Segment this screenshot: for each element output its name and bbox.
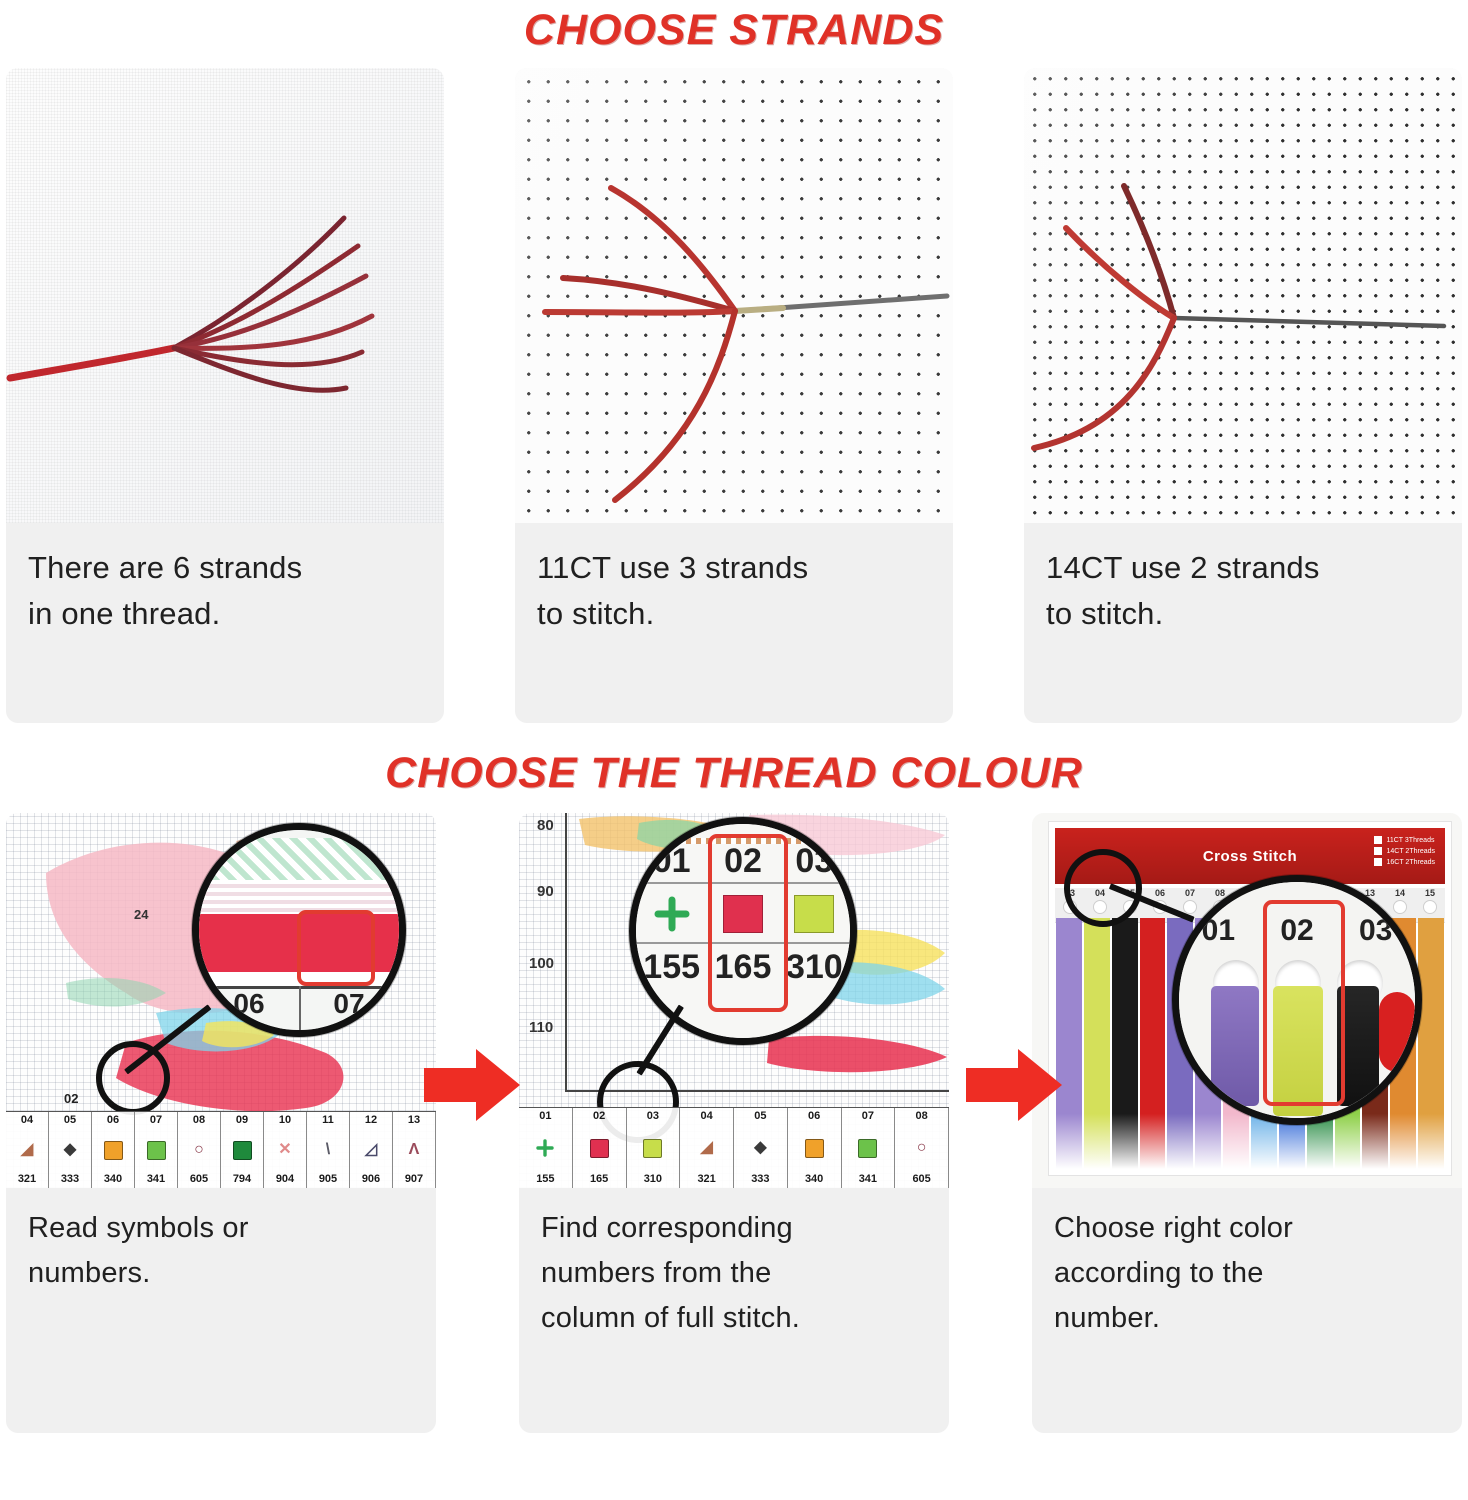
legend-index: 09 [236, 1114, 248, 1127]
color-swatch-icon [147, 1141, 166, 1160]
legend-dmc-number: 333 [751, 1173, 769, 1186]
legend-index: 08 [193, 1114, 205, 1127]
two-strands-with-needle-illustration [1024, 68, 1462, 523]
heading-choose-strands: CHOOSE STRANDS [0, 0, 1468, 56]
legend-index: 02 [593, 1110, 605, 1123]
organizer-title: Cross Stitch [1203, 848, 1297, 865]
organizer-option-1: 14CT 2Threads [1374, 847, 1435, 855]
highlight-box-slot-02 [1263, 900, 1345, 1106]
legend-symbol: Λ [409, 1139, 420, 1161]
legend-dmc-number: 340 [805, 1173, 823, 1186]
legend-symbol: ✕ [278, 1139, 291, 1161]
triangle-icon: ◢ [700, 1140, 712, 1156]
legend-index: 12 [365, 1114, 377, 1127]
thread-skein [1084, 918, 1110, 1169]
legend-cell: 06340 [92, 1112, 135, 1188]
legend-index: 06 [107, 1114, 119, 1127]
photo-thread-organizer: Cross Stitch 11CT 3Threads 14CT 2Threads [1032, 813, 1462, 1188]
legend-symbol: ◿ [365, 1139, 377, 1161]
caption-11ct: 11CT use 3 strands to stitch. [515, 523, 953, 637]
legend-symbol: ◆ [64, 1139, 76, 1161]
svg-text:24: 24 [134, 907, 149, 922]
legend-symbol: ◆ [754, 1137, 766, 1159]
magnifier-col-03: 03 [779, 842, 850, 881]
legend-index: 07 [862, 1110, 874, 1123]
caption-line-3: number. [1054, 1296, 1440, 1341]
checkbox-icon [1374, 847, 1382, 855]
legend-dmc-number: 340 [104, 1173, 122, 1186]
highlight-box-column-02 [708, 834, 788, 1012]
organizer-option-label: 11CT 3Threads [1386, 837, 1434, 844]
caption-line-1: 11CT use 3 strands [537, 545, 931, 591]
legend-symbol: ○ [917, 1137, 927, 1159]
legend-cell: 04◢321 [680, 1108, 734, 1188]
caption-line-3: column of full stitch. [541, 1296, 927, 1341]
caption-find-numbers: Find corresponding numbers from the colu… [519, 1188, 949, 1341]
legend-index: 06 [808, 1110, 820, 1123]
legend-symbol [590, 1137, 609, 1159]
colour-card-find-numbers: 80 90 100 110 01 [519, 813, 949, 1433]
organizer-hole-icon [1423, 900, 1437, 914]
legend-index: 10 [279, 1114, 291, 1127]
legend-dmc-number: 907 [405, 1173, 423, 1186]
legend-index: 11 [322, 1114, 334, 1127]
right-arrow-icon [424, 1068, 482, 1102]
photo-chart-with-axis: 80 90 100 110 01 [519, 813, 949, 1188]
magnifier-dmc-310: 310 [779, 948, 850, 987]
color-swatch-icon [805, 1139, 824, 1158]
magnifier-dmc-155: 155 [636, 948, 707, 987]
magnifier-label-06: 06 [199, 988, 299, 1020]
caret-icon: Λ [409, 1142, 420, 1158]
legend-index: 05 [754, 1110, 766, 1123]
organizer-options: 11CT 3Threads 14CT 2Threads 16CT 2Thread… [1374, 836, 1435, 866]
magnifier-contents: 01 02 03 [636, 824, 850, 1038]
thread-skein [1056, 918, 1082, 1169]
caption-line-2: to stitch. [537, 591, 931, 637]
photo-pattern-chart: 24 06 07 [6, 813, 436, 1188]
legend-cell: 03310 [627, 1108, 681, 1188]
needle-icon [1174, 318, 1444, 326]
organizer-slot-number: 06 [1155, 888, 1165, 899]
strands-card-row: There are 6 strands in one thread. 11CT … [0, 68, 1468, 723]
pattern-legend-table: 04◢32105◆333063400734108○6050979410✕9041… [6, 1111, 436, 1188]
legend-symbol [233, 1139, 252, 1161]
legend-index: 04 [21, 1114, 33, 1127]
diamond-icon: ◆ [64, 1142, 76, 1158]
magnifier-circle-pattern: 06 07 [192, 823, 406, 1037]
arrow-1-wrapper [424, 1068, 482, 1102]
three-strands-with-needle-illustration [515, 68, 953, 523]
heading-choose-thread-colour: CHOOSE THE THREAD COLOUR [0, 745, 1468, 799]
caption-line-2: in one thread. [28, 591, 422, 637]
organizer-slot-number: 15 [1425, 888, 1435, 899]
photo-14ct-aida [1024, 68, 1462, 523]
magnifier-label-07: 07 [299, 988, 399, 1020]
thread-skein [1112, 918, 1138, 1169]
strands-card-6: There are 6 strands in one thread. [6, 68, 444, 723]
backslash-icon: \ [326, 1142, 330, 1158]
legend-symbol: ○ [194, 1139, 204, 1161]
organizer-option-label: 14CT 2Threads [1386, 848, 1435, 855]
legend-dmc-number: 906 [362, 1173, 380, 1186]
caption-line-2: to stitch. [1046, 591, 1440, 637]
legend-index: 08 [916, 1110, 928, 1123]
legend-cell: 08○605 [178, 1112, 221, 1188]
cross-icon: ✕ [278, 1142, 291, 1158]
caption-choose-color: Choose right color according to the numb… [1032, 1188, 1462, 1341]
colour-card-row: 24 06 07 [0, 813, 1468, 1433]
legend-dmc-number: 310 [644, 1173, 662, 1186]
legend-dmc-number: 605 [912, 1173, 930, 1186]
magnifier-circle-skeins: 01 02 03 [1172, 875, 1422, 1125]
caption-line-2: according to the [1054, 1251, 1440, 1296]
photo-11ct-aida [515, 68, 953, 523]
legend-cell: 06340 [788, 1108, 842, 1188]
legend-cell: 07341 [842, 1108, 896, 1188]
circle-icon: ○ [917, 1140, 927, 1156]
right-arrow-icon [966, 1068, 1024, 1102]
arrow-2-wrapper [966, 1068, 1024, 1102]
color-swatch-icon [643, 1139, 662, 1158]
legend-dmc-number: 155 [536, 1173, 554, 1186]
legend-cell: 11\905 [307, 1112, 350, 1188]
legend-cell: 04◢321 [6, 1112, 49, 1188]
legend-dmc-number: 794 [233, 1173, 251, 1186]
legend-dmc-number: 341 [147, 1173, 165, 1186]
legend-symbol [858, 1137, 877, 1159]
strands-card-11ct: 11CT use 3 strands to stitch. [515, 68, 953, 723]
legend-cell: 12◿906 [350, 1112, 393, 1188]
legend-cell: 07341 [135, 1112, 178, 1188]
magnifier-contents: 01 02 03 [1179, 882, 1415, 1118]
magnifier-col-01: 01 [636, 842, 707, 881]
color-swatch-icon [233, 1141, 252, 1160]
diamond-icon: ◆ [754, 1140, 766, 1156]
legend-symbol: \ [326, 1139, 330, 1161]
legend-symbol: ◢ [21, 1139, 33, 1161]
caption-line-1: Find corresponding [541, 1206, 927, 1251]
legend-cell: 09794 [221, 1112, 264, 1188]
legend-index: 04 [701, 1110, 713, 1123]
strands-card-14ct: 14CT use 2 strands to stitch. [1024, 68, 1462, 723]
magnifier-target-circle [96, 1041, 170, 1115]
legend-cell: 05◆333 [49, 1112, 92, 1188]
organizer-option-0: 11CT 3Threads [1374, 836, 1435, 844]
organizer-slot: 15 [1415, 888, 1445, 922]
circle-icon: ○ [194, 1142, 204, 1158]
magnifier-skein-red [1379, 992, 1415, 1072]
checkbox-icon [1374, 836, 1382, 844]
thread-skein [1140, 918, 1166, 1169]
legend-cell: 01155 [519, 1108, 573, 1188]
legend-cell: 05◆333 [734, 1108, 788, 1188]
legend-cell: 10✕904 [264, 1112, 307, 1188]
legend-symbol [643, 1137, 662, 1159]
legend-index: 03 [647, 1110, 659, 1123]
magnifier-circle-legend: 01 02 03 [629, 817, 857, 1045]
organizer-option-label: 16CT 2Threads [1386, 859, 1435, 866]
leaf-icon: ◿ [365, 1142, 377, 1158]
checkbox-icon [1374, 858, 1382, 866]
legend-dmc-number: 333 [61, 1173, 79, 1186]
organizer-option-2: 16CT 2Threads [1374, 858, 1435, 866]
thread-skein [1418, 918, 1444, 1169]
magnifier-slot-03: 03 [1336, 914, 1415, 948]
colour-card-read-symbols: 24 06 07 [6, 813, 436, 1433]
caption-line-1: There are 6 strands [28, 545, 422, 591]
legend-index: 01 [539, 1110, 551, 1123]
photo-six-strands [6, 68, 444, 523]
caption-read-symbols: Read symbols or numbers. [6, 1188, 436, 1296]
legend-index: 13 [408, 1114, 420, 1127]
caption-line-2: numbers from the [541, 1251, 927, 1296]
pattern-legend-table: 01155021650331004◢32105◆333063400734108○… [519, 1107, 949, 1188]
magnifier-target-circle [1064, 849, 1142, 927]
legend-cell: 02165 [573, 1108, 627, 1188]
legend-cell: 08○605 [895, 1108, 949, 1188]
triangle-icon: ◢ [21, 1142, 33, 1158]
color-swatch-icon [590, 1139, 609, 1158]
legend-cell: 13Λ907 [393, 1112, 436, 1188]
caption-14ct: 14CT use 2 strands to stitch. [1024, 523, 1462, 637]
legend-dmc-number: 904 [276, 1173, 294, 1186]
highlight-box [297, 910, 375, 986]
magnifier-symbol-green-cross [636, 894, 707, 934]
legend-dmc-number: 165 [590, 1173, 608, 1186]
magnifier-symbol-yellow-green-square [779, 895, 850, 933]
legend-dmc-number: 341 [859, 1173, 877, 1186]
caption-line-1: Choose right color [1054, 1206, 1440, 1251]
caption-line-1: Read symbols or [28, 1206, 414, 1251]
legend-symbol [147, 1139, 166, 1161]
magnifier-contents: 06 07 [199, 830, 399, 1030]
six-strands-illustration [6, 68, 444, 523]
legend-dmc-number: 605 [190, 1173, 208, 1186]
legend-symbol [104, 1139, 123, 1161]
caption-six-strands: There are 6 strands in one thread. [6, 523, 444, 637]
magnifier-skein-purple [1211, 986, 1259, 1106]
caption-line-2: numbers. [28, 1251, 414, 1296]
caption-line-1: 14CT use 2 strands [1046, 545, 1440, 591]
color-swatch-icon [858, 1139, 877, 1158]
green-cross-icon [536, 1139, 554, 1157]
legend-dmc-number: 321 [697, 1173, 715, 1186]
legend-index: 07 [150, 1114, 162, 1127]
legend-dmc-number: 321 [18, 1173, 36, 1186]
legend-dmc-number: 905 [319, 1173, 337, 1186]
legend-symbol [805, 1137, 824, 1159]
legend-symbol: ◢ [700, 1137, 712, 1159]
legend-symbol [536, 1137, 554, 1159]
legend-index: 05 [64, 1114, 76, 1127]
colour-card-choose-color: Cross Stitch 11CT 3Threads 14CT 2Threads [1032, 813, 1462, 1433]
color-swatch-icon [104, 1141, 123, 1160]
